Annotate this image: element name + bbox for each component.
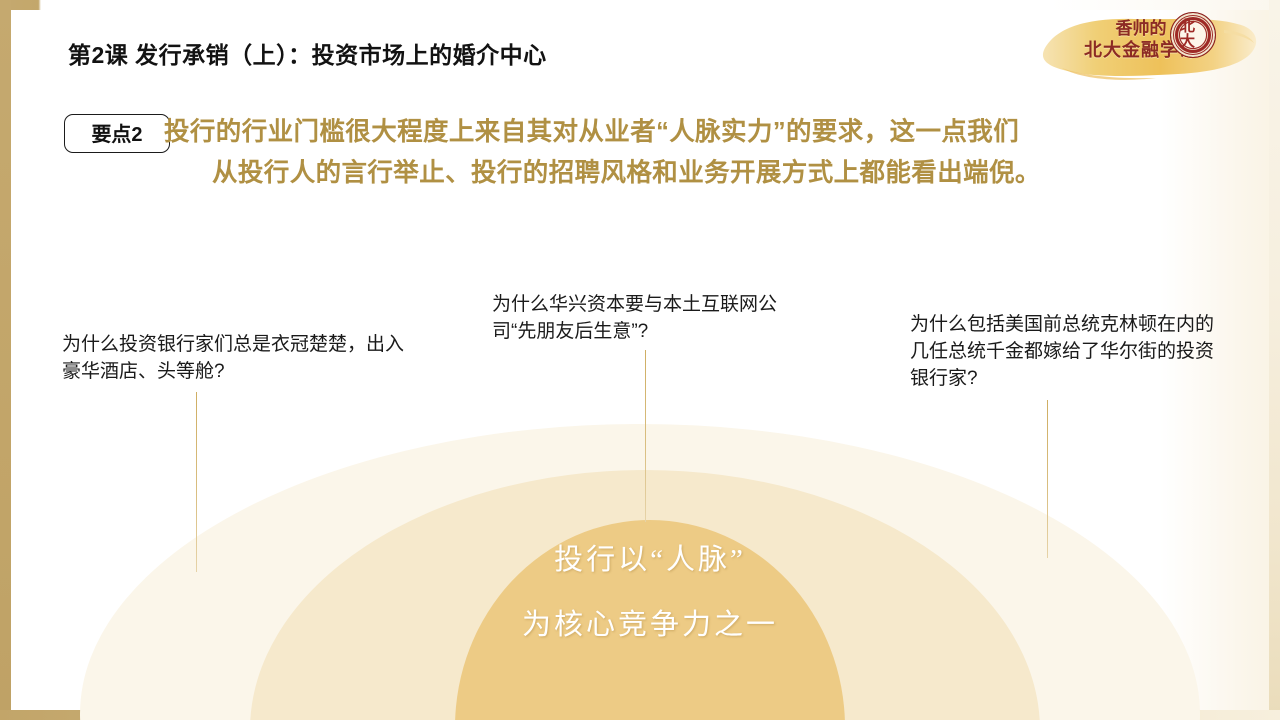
seal-inner: 北大 <box>1180 22 1206 48</box>
key-point-heading: 投行的行业门槛很大程度上来自其对从业者“人脉实力”的要求，这一点我们 从投行人的… <box>164 112 1222 195</box>
connector-line-3 <box>1047 400 1048 558</box>
page-title: 第2课 发行承销（上）：投资市场上的婚介中心 <box>68 36 547 70</box>
status-badge: 要点2 <box>64 114 170 153</box>
question-block-3: 为什么包括美国前总统克林顿在内的几任总统千金都嫁给了华尔街的投资银行家? <box>910 312 1222 393</box>
question-block-1: 为什么投资银行家们总是衣冠楚楚，出入豪华酒店、头等舱? <box>62 332 412 386</box>
center-conclusion: 投行以“人脉” 为核心竞争力之一 <box>455 543 845 643</box>
brand-logo: 香帅的 北大金融学课 北大 <box>1038 4 1266 90</box>
heading-line-2: 从投行人的言行举止、投行的招聘风格和业务开展方式上都能看出端倪。 <box>164 153 1222 194</box>
center-line-2: 为核心竞争力之一 <box>455 608 845 643</box>
heading-line-1: 投行的行业门槛很大程度上来自其对从业者“人脉实力”的要求，这一点我们 <box>164 118 1019 146</box>
connector-line-2 <box>645 350 646 522</box>
university-seal-icon: 北大 <box>1170 12 1216 58</box>
center-line-1: 投行以“人脉” <box>554 544 746 576</box>
question-block-2: 为什么华兴资本要与本土互联网公司“先朋友后生意”? <box>492 292 802 346</box>
frame-right-border <box>1269 0 1280 720</box>
connector-line-1 <box>196 392 197 572</box>
slide-canvas: 第2课 发行承销（上）：投资市场上的婚介中心 香帅的 北大金融学课 <box>0 0 1280 720</box>
frame-left-border <box>0 0 11 720</box>
seal-glyph: 北大 <box>1180 20 1206 50</box>
